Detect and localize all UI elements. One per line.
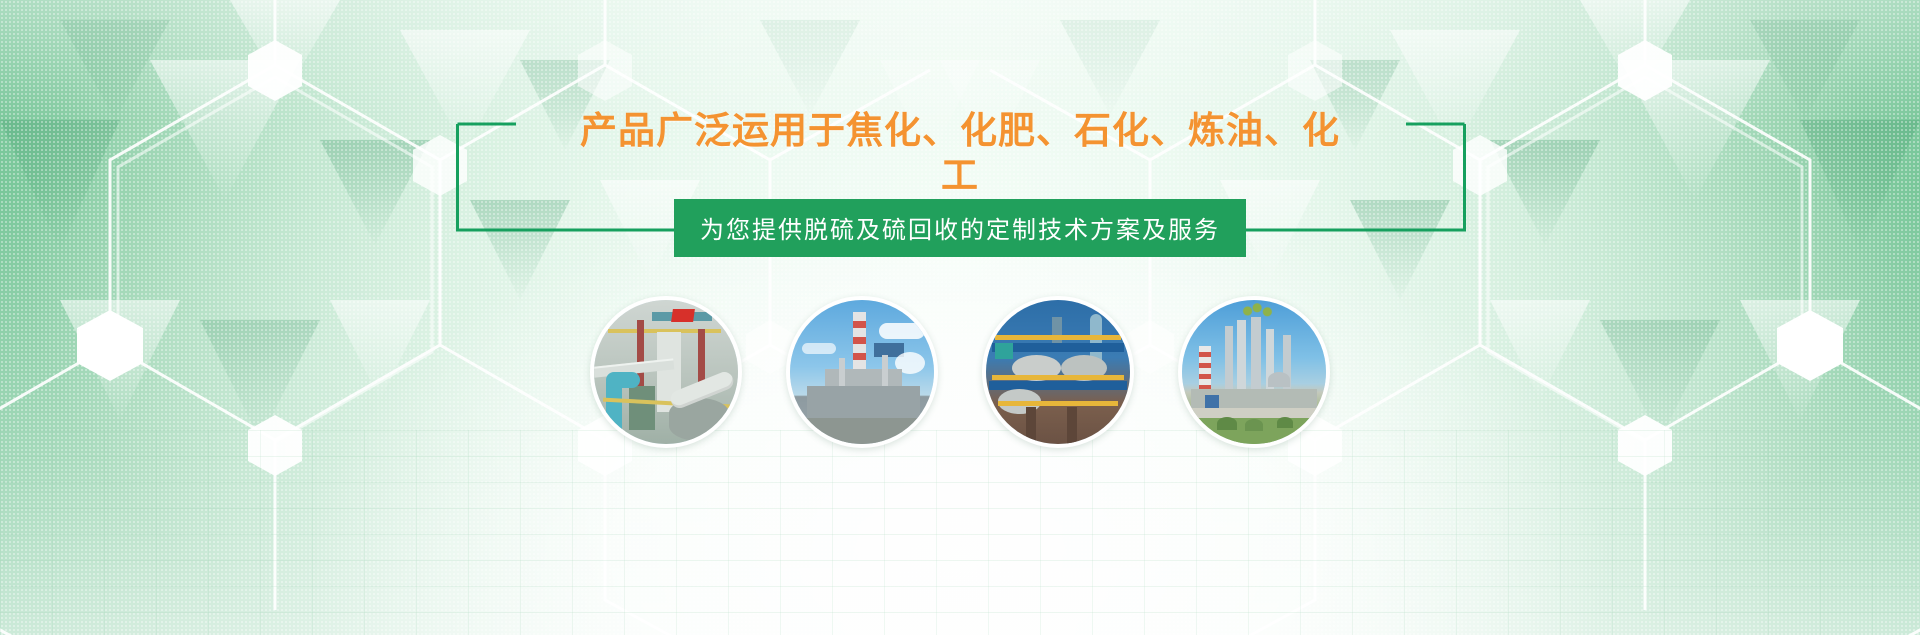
photo-gallery bbox=[0, 296, 1920, 448]
gallery-photo-1[interactable] bbox=[590, 296, 742, 448]
hero-banner: 产品广泛运用于焦化、化肥、石化、炼油、化工 等领域中的湿法脱硫的硫回收工序 为您… bbox=[0, 0, 1920, 635]
photo-3-image bbox=[986, 300, 1130, 444]
gallery-photo-3[interactable] bbox=[982, 296, 1134, 448]
background-top-glow bbox=[0, 0, 1920, 120]
gallery-photo-2[interactable] bbox=[786, 296, 938, 448]
headline-line-1: 产品广泛运用于焦化、化肥、石化、炼油、化工 bbox=[580, 108, 1340, 198]
background-perspective-floor bbox=[0, 430, 1920, 635]
photo-2-image bbox=[790, 300, 934, 444]
photo-1-image bbox=[594, 300, 738, 444]
subheadline-banner: 为您提供脱硫及硫回收的定制技术方案及服务 bbox=[674, 199, 1246, 257]
photo-4-image bbox=[1182, 300, 1326, 444]
gallery-photo-4[interactable] bbox=[1178, 296, 1330, 448]
